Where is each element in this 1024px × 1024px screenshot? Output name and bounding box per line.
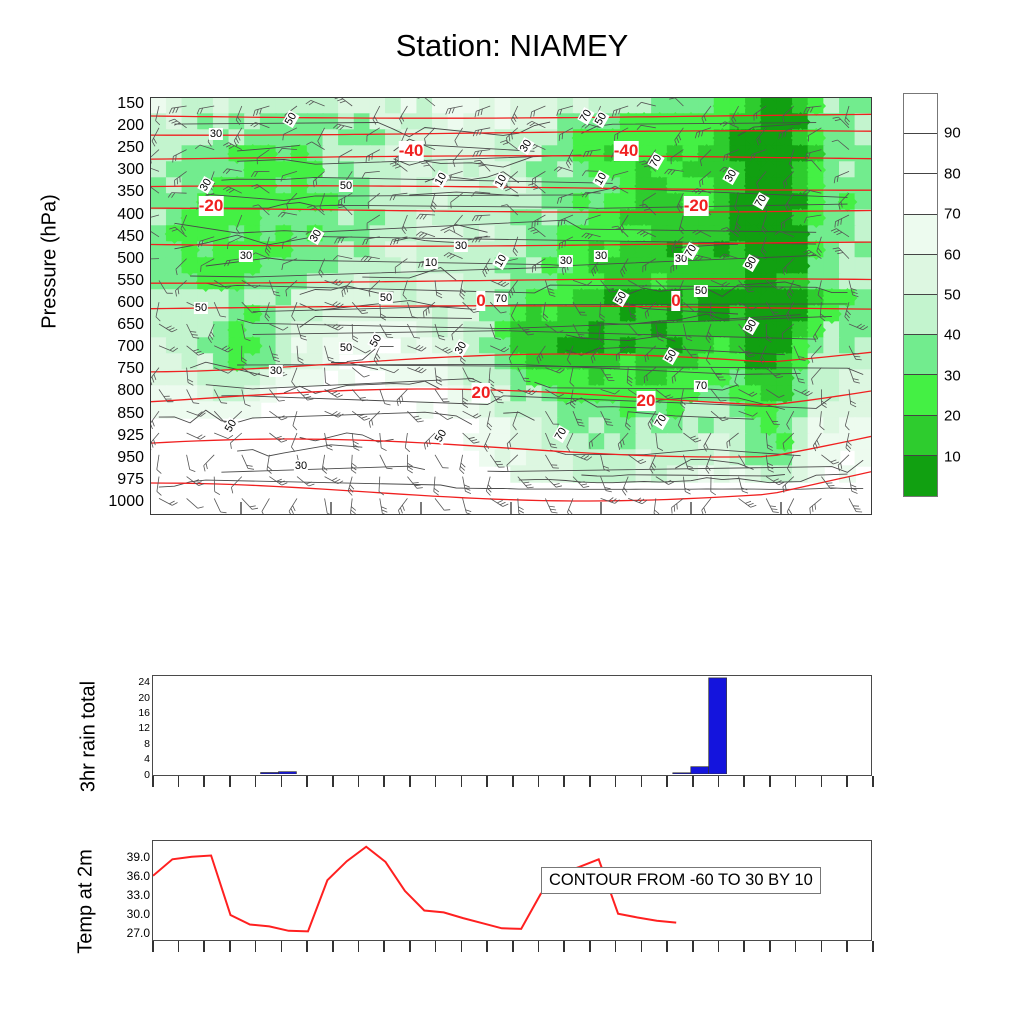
rain-y-tick: 8 (104, 738, 150, 750)
axis-tick (486, 776, 488, 787)
colorbar-band (904, 174, 937, 214)
axis-tick (769, 776, 771, 787)
main-y-tick: 300 (84, 161, 144, 179)
axis-tick (203, 941, 205, 952)
axis-tick (383, 776, 385, 787)
axis-tick (281, 776, 283, 787)
axis-tick (178, 776, 180, 787)
humidity-colorbar (903, 93, 938, 497)
colorbar-band (904, 94, 937, 134)
axis-tick (743, 776, 745, 787)
colorbar-tick-label: 90 (944, 125, 961, 142)
colorbar-band (904, 255, 937, 295)
axis-tick (743, 941, 745, 952)
temp-y-tick: 30.0 (98, 907, 150, 921)
axis-tick (563, 941, 565, 952)
humidity-contour-label: 30 (209, 128, 223, 140)
humidity-contour-label: 70 (694, 380, 708, 392)
main-y-tick: 200 (84, 117, 144, 135)
axis-tick (435, 776, 437, 787)
colorbar-tick-label: 10 (944, 448, 961, 465)
humidity-contour-label: 50 (379, 292, 393, 304)
rain-y-tick: 4 (104, 753, 150, 765)
rain-y-tick: 0 (104, 769, 150, 781)
humidity-contour-label: 30 (294, 460, 308, 472)
axis-tick (589, 776, 591, 787)
humidity-contour-label: 30 (269, 365, 283, 377)
axis-tick (332, 941, 334, 952)
main-y-tick: 650 (84, 316, 144, 334)
humidity-contour-label: 50 (339, 180, 353, 192)
axis-tick (358, 776, 360, 787)
temperature-contour-label: 20 (472, 383, 491, 403)
colorbar-band (904, 134, 937, 174)
colorbar-band (904, 215, 937, 255)
contour-annotation-box: CONTOUR FROM -60 TO 30 BY 10 (541, 867, 821, 894)
axis-tick (666, 941, 668, 952)
axis-tick (692, 941, 694, 952)
rain-y-tick: 16 (104, 707, 150, 719)
main-y-axis-ticks: 1502002503003504004505005506006507007508… (80, 97, 144, 515)
axis-tick (203, 776, 205, 787)
axis-tick (255, 941, 257, 952)
temperature-contour-label: 20 (637, 391, 656, 411)
temp-panel-label: Temp at 2m (75, 807, 98, 997)
axis-tick (846, 941, 848, 952)
temperature-contour-label: -20 (199, 196, 224, 216)
main-y-tick: 450 (84, 228, 144, 246)
main-y-tick: 800 (84, 382, 144, 400)
axis-tick (538, 776, 540, 787)
humidity-contour-label: 30 (239, 250, 253, 262)
temperature-contour-label: 0 (476, 291, 485, 311)
rain-y-tick: 20 (104, 692, 150, 704)
axis-tick (152, 941, 154, 952)
axis-tick (152, 776, 154, 787)
axis-tick (461, 776, 463, 787)
page-title: Station: NIAMEY (0, 28, 1024, 64)
temp-y-tick: 36.0 (98, 869, 150, 883)
colorbar-tick-label: 60 (944, 246, 961, 263)
axis-tick (383, 941, 385, 952)
axis-tick (872, 941, 874, 952)
axis-tick (306, 941, 308, 952)
humidity-contour-label: 30 (454, 240, 468, 252)
axis-tick (692, 776, 694, 787)
rain-y-tick: 24 (104, 676, 150, 688)
humidity-contour-label: 50 (339, 342, 353, 354)
colorbar-tick-label: 30 (944, 367, 961, 384)
axis-tick (769, 941, 771, 952)
colorbar-band (904, 456, 937, 496)
axis-tick (512, 776, 514, 787)
axis-tick (641, 941, 643, 952)
humidity-contour-label: 50 (194, 302, 208, 314)
axis-tick (846, 776, 848, 787)
temperature-contour-label: -20 (684, 196, 709, 216)
rain-y-axis-ticks: 24201612840 (104, 675, 150, 776)
axis-tick (409, 776, 411, 787)
humidity-colorbar-labels: 908070605040302010 (944, 93, 994, 497)
main-y-tick: 500 (84, 250, 144, 268)
axis-tick (512, 941, 514, 952)
colorbar-tick-label: 80 (944, 165, 961, 182)
axis-tick (281, 941, 283, 952)
axis-tick (821, 941, 823, 952)
main-y-tick: 925 (84, 427, 144, 445)
main-y-tick: 750 (84, 360, 144, 378)
humidity-contour-label: 30 (559, 255, 573, 267)
axis-tick (178, 941, 180, 952)
temp-y-tick: 27.0 (98, 926, 150, 940)
main-y-tick: 975 (84, 471, 144, 489)
main-y-tick: 600 (84, 294, 144, 312)
colorbar-tick-label: 20 (944, 408, 961, 425)
axis-tick (821, 776, 823, 787)
colorbar-band (904, 335, 937, 375)
rain-total-plot[interactable] (152, 675, 872, 776)
temp-y-tick: 33.0 (98, 888, 150, 902)
humidity-contour-label: 10 (424, 257, 438, 269)
main-y-tick: 850 (84, 405, 144, 423)
colorbar-tick-label: 50 (944, 287, 961, 304)
axis-tick (486, 941, 488, 952)
axis-tick (358, 941, 360, 952)
main-y-tick: 550 (84, 272, 144, 290)
colorbar-band (904, 295, 937, 335)
main-y-tick: 700 (84, 338, 144, 356)
main-y-tick: 1000 (84, 493, 144, 511)
colorbar-band (904, 375, 937, 415)
axis-tick (538, 941, 540, 952)
colorbar-tick-label: 40 (944, 327, 961, 344)
temperature-contour-label: -40 (399, 141, 424, 161)
axis-tick (718, 941, 720, 952)
axis-tick (229, 941, 231, 952)
temp-y-axis-ticks: 39.036.033.030.027.0 (98, 840, 150, 941)
humidity-contour-label: 70 (494, 293, 508, 305)
axis-tick (615, 941, 617, 952)
rain-bars-svg (153, 676, 870, 774)
axis-tick (615, 776, 617, 787)
axis-tick (229, 776, 231, 787)
temperature-contour-label: -40 (614, 141, 639, 161)
humidity-contour-svg (151, 98, 871, 514)
axis-tick (718, 776, 720, 787)
axis-tick (563, 776, 565, 787)
main-y-tick: 150 (84, 95, 144, 113)
axis-tick (795, 941, 797, 952)
main-y-axis-label: Pressure (hPa) (39, 152, 62, 372)
axis-tick (409, 941, 411, 952)
main-y-tick: 400 (84, 206, 144, 224)
temperature-contour-label: 0 (671, 291, 680, 311)
main-y-tick: 250 (84, 139, 144, 157)
axis-tick (255, 776, 257, 787)
colorbar-tick-label: 70 (944, 206, 961, 223)
main-y-tick: 950 (84, 449, 144, 467)
rain-y-tick: 12 (104, 722, 150, 734)
axis-tick (872, 776, 874, 787)
axis-tick (795, 776, 797, 787)
axis-tick (641, 776, 643, 787)
axis-tick (332, 776, 334, 787)
humidity-contour-label: 50 (694, 285, 708, 297)
axis-tick (461, 941, 463, 952)
main-y-tick: 350 (84, 183, 144, 201)
colorbar-band (904, 416, 937, 456)
axis-tick (666, 776, 668, 787)
humidity-contour-label: 30 (594, 250, 608, 262)
axis-tick (589, 941, 591, 952)
temp-y-tick: 39.0 (98, 850, 150, 864)
axis-tick (306, 776, 308, 787)
humidity-time-height-plot[interactable]: 3050503010103030103030305050305050507050… (150, 97, 872, 515)
axis-tick (435, 941, 437, 952)
